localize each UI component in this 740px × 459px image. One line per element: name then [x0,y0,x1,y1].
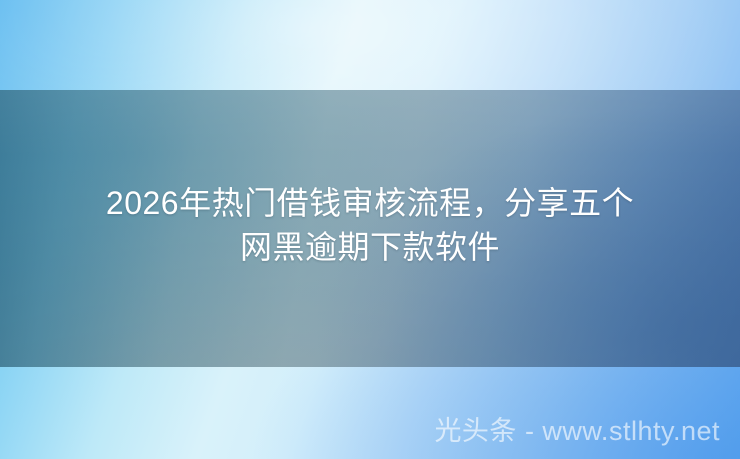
banner-headline: 2026年热门借钱审核流程，分享五个 网黑逾期下款软件 [0,181,740,269]
promo-banner: 2026年热门借钱审核流程，分享五个 网黑逾期下款软件 光头条 - www.st… [0,0,740,459]
